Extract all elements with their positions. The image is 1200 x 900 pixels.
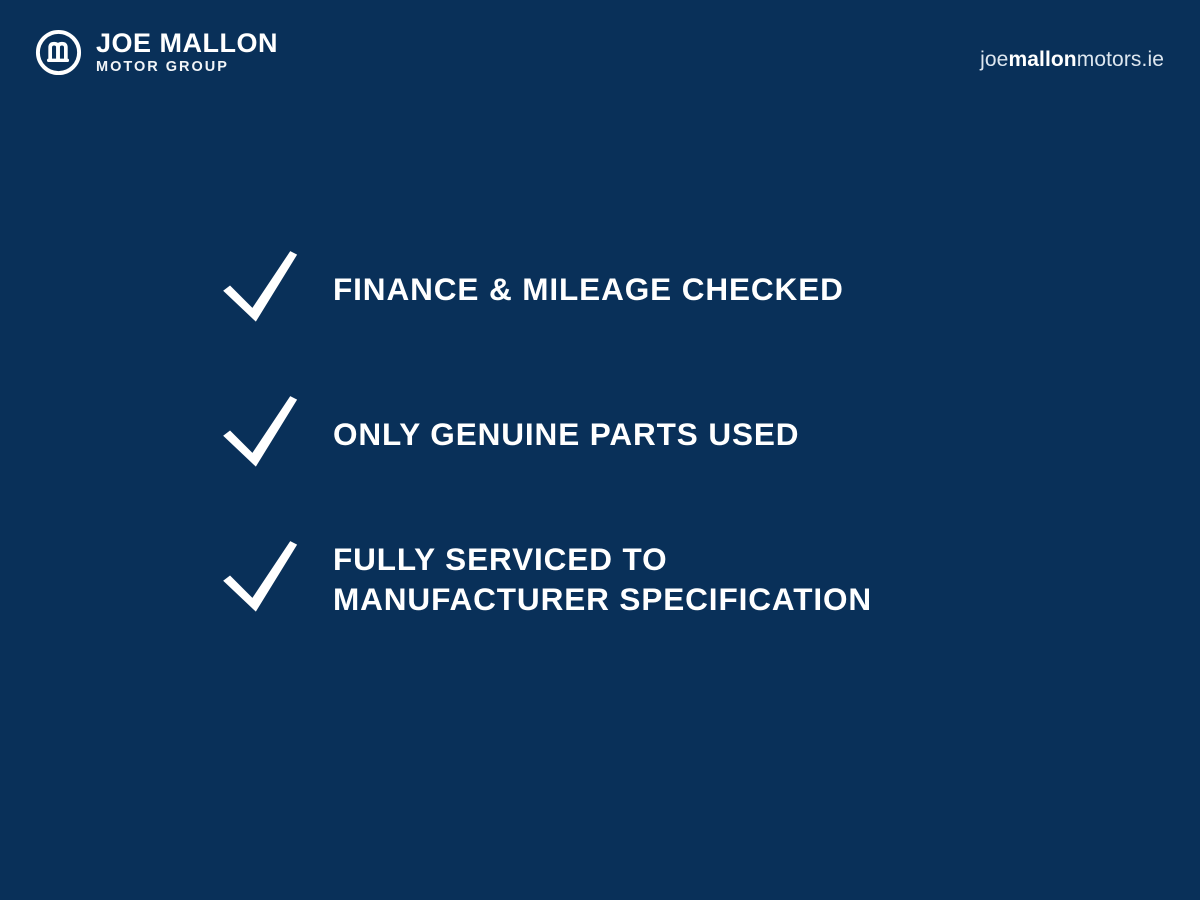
feature-list: FINANCE & MILEAGE CHECKED ONLY GENUINE P… (0, 236, 1200, 632)
website-url[interactable]: joemallonmotors.ie (980, 48, 1164, 72)
checkmark-icon (218, 536, 304, 622)
brand-logo[interactable]: JOE MALLON MOTOR GROUP (34, 28, 278, 77)
checkmark-icon (218, 246, 304, 332)
url-part-joe: joe (980, 48, 1008, 71)
brand-name: JOE MALLON (96, 30, 278, 58)
list-item: FULLY SERVICED TO MANUFACTURER SPECIFICA… (0, 526, 1200, 632)
list-item: ONLY GENUINE PARTS USED (0, 381, 1200, 487)
header: JOE MALLON MOTOR GROUP joemallonmotors.i… (0, 0, 1200, 110)
joe-mallon-monogram-logo (34, 28, 83, 77)
list-item-label: FINANCE & MILEAGE CHECKED (333, 269, 844, 309)
promo-slide: JOE MALLON MOTOR GROUP joemallonmotors.i… (0, 0, 1200, 900)
list-item: FINANCE & MILEAGE CHECKED (0, 236, 1200, 342)
list-item-label: FULLY SERVICED TO MANUFACTURER SPECIFICA… (333, 539, 872, 620)
list-item-label: ONLY GENUINE PARTS USED (333, 414, 799, 454)
brand-subtitle: MOTOR GROUP (96, 58, 229, 76)
url-part-mallon: mallon (1008, 48, 1076, 71)
brand-wordmark: JOE MALLON MOTOR GROUP (96, 29, 278, 77)
checkmark-icon (218, 391, 304, 477)
url-part-motors: motors.ie (1077, 48, 1164, 71)
